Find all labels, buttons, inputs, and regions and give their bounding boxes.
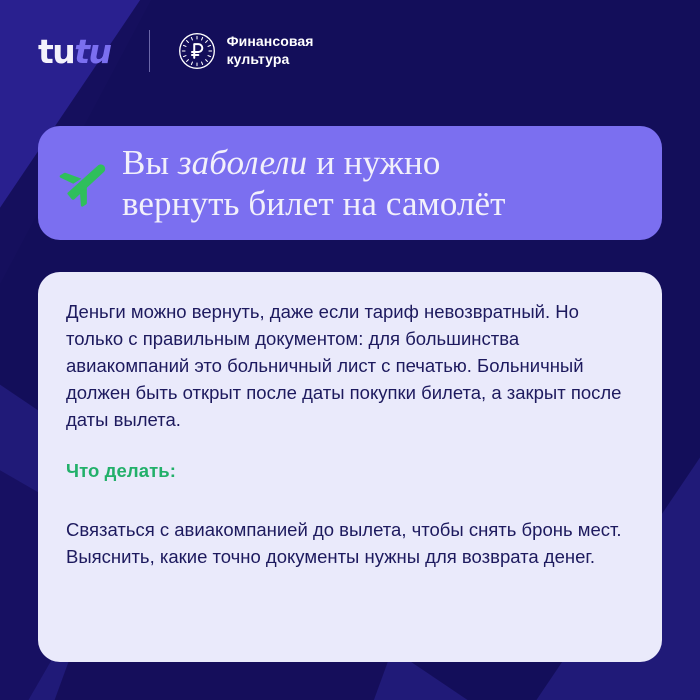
brand-header: tutu <box>38 28 314 74</box>
section-heading-what-to-do: Что делать: <box>66 460 628 482</box>
tutu-logo[interactable]: tutu <box>38 35 111 68</box>
tutu-logo-part-one: tu <box>38 35 74 68</box>
brand-name-line-two: культура <box>227 51 290 67</box>
title-line-one-emphasis: заболели <box>178 143 307 182</box>
title-card: Вы заболели и нужно вернуть билет на сам… <box>38 126 662 240</box>
intro-paragraph: Деньги можно вернуть, даже если тариф не… <box>66 298 628 433</box>
content-card: Деньги можно вернуть, даже если тариф не… <box>38 272 662 662</box>
airplane-icon <box>58 155 110 207</box>
brand-name-line-one: Финансовая <box>227 33 314 49</box>
action-paragraph: Связаться с авиакомпанией до вылета, что… <box>66 516 628 570</box>
header-divider <box>149 30 150 72</box>
finansovaya-kultura-brand[interactable]: Финансовая культура <box>178 32 314 70</box>
brand-name: Финансовая культура <box>227 33 314 68</box>
title-line-two: вернуть билет на самолёт <box>122 184 506 223</box>
poster-card: tutu <box>0 0 700 700</box>
tutu-logo-part-two: tu <box>74 35 110 68</box>
title-line-one-start: Вы <box>122 143 178 182</box>
title-line-one-end: и нужно <box>307 143 440 182</box>
page-title: Вы заболели и нужно вернуть билет на сам… <box>122 142 506 225</box>
ruble-coin-icon <box>178 32 216 70</box>
